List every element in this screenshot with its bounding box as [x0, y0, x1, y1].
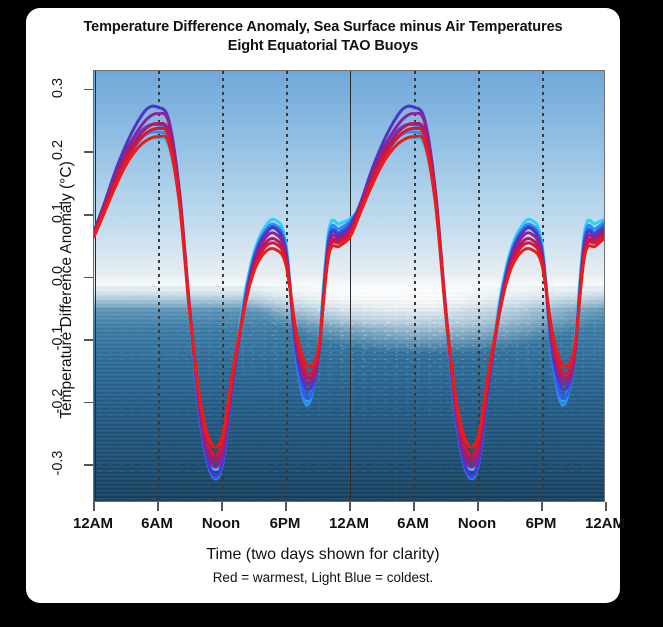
series-line — [94, 138, 605, 469]
y-axis-title: Temperature Difference Anomaly (°C) — [58, 90, 76, 490]
y-axis-tick — [84, 277, 93, 279]
x-axis-tick — [349, 502, 351, 511]
x-axis-tick — [605, 502, 607, 511]
x-axis-tick — [221, 502, 223, 511]
series-line — [94, 132, 605, 479]
series-lines — [94, 71, 605, 502]
x-axis-tick — [541, 502, 543, 511]
x-axis-tick — [413, 502, 415, 511]
y-axis-tick — [84, 89, 93, 91]
series-line — [94, 136, 605, 447]
chart-title: Temperature Difference Anomaly, Sea Surf… — [26, 18, 620, 56]
x-tick-label: 6AM — [127, 515, 187, 532]
x-tick-label: 12AM — [319, 515, 379, 532]
x-axis-tick — [93, 502, 95, 511]
series-line — [94, 124, 605, 477]
chart-title-primary: Temperature Difference Anomaly, Sea Surf… — [26, 18, 620, 37]
x-tick-label: 6PM — [255, 515, 315, 532]
x-tick-label: Noon — [191, 515, 251, 532]
plot-area — [93, 70, 605, 502]
x-axis-tick — [285, 502, 287, 511]
chart-title-secondary: Eight Equatorial TAO Buoys — [26, 37, 620, 56]
y-axis-tick — [84, 464, 93, 466]
y-axis-tick — [84, 214, 93, 216]
y-axis-tick — [84, 402, 93, 404]
y-axis-tick — [84, 339, 93, 341]
x-tick-label: 12AM — [63, 515, 123, 532]
y-axis-tick — [84, 151, 93, 153]
x-axis-tick — [157, 502, 159, 511]
x-tick-label: 6PM — [511, 515, 571, 532]
series-line — [94, 106, 605, 475]
series-line — [94, 123, 605, 460]
x-tick-label: Noon — [447, 515, 507, 532]
series-line — [94, 128, 605, 455]
x-axis-tick — [477, 502, 479, 511]
x-tick-label: 6AM — [383, 515, 443, 532]
x-axis-title: Time (two days shown for clarity) — [26, 546, 620, 564]
chart-caption: Red = warmest, Light Blue = coldest. — [26, 570, 620, 585]
series-line — [94, 113, 605, 467]
x-tick-label: 12AM — [575, 515, 635, 532]
